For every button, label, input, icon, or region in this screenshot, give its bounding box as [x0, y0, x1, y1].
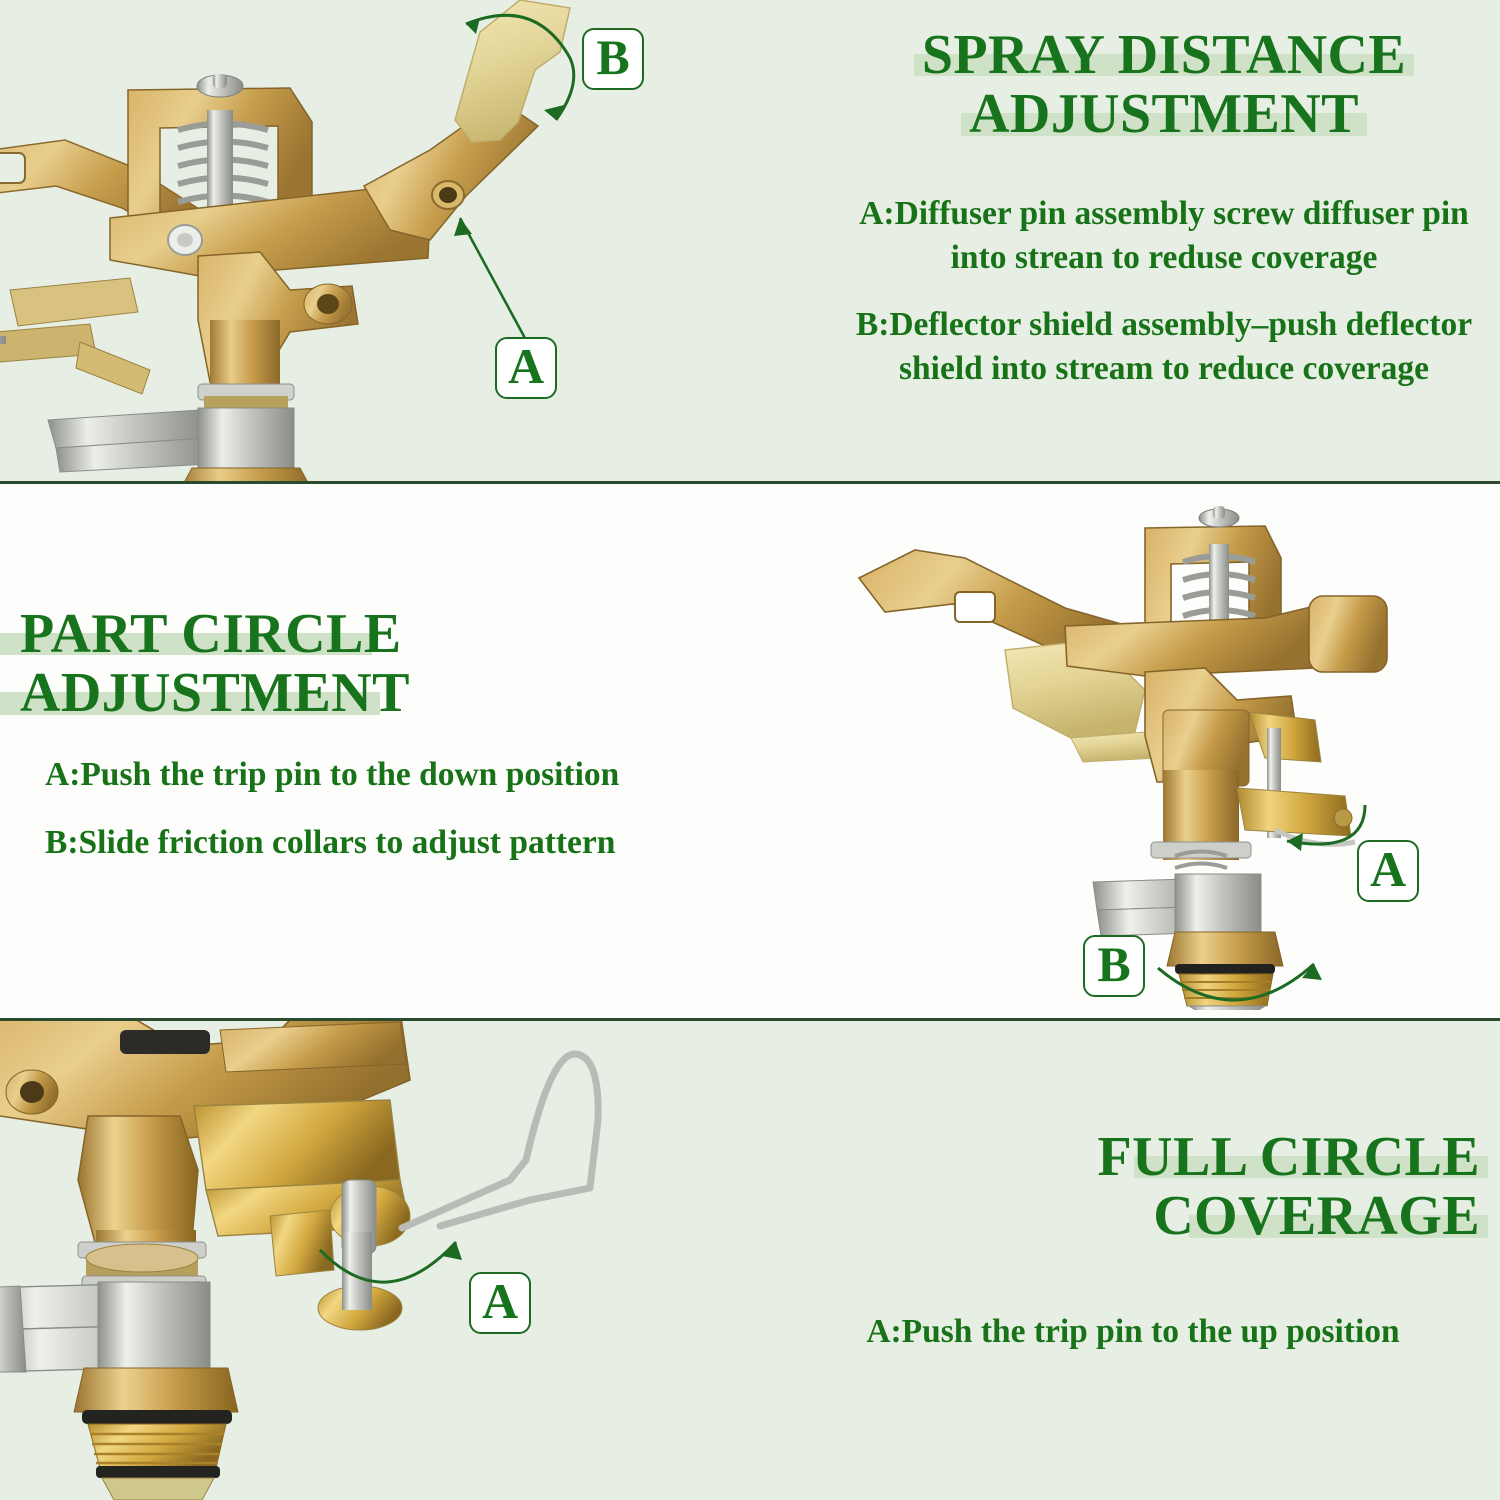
instruction-a: A:Push the trip pin to the down position: [45, 753, 665, 797]
panel-body-spray-distance: A:Diffuser pin assembly screw diffuser p…: [836, 192, 1492, 390]
panel-divider-1: [0, 481, 1500, 484]
callout-badge-a[interactable]: A: [469, 1272, 531, 1334]
callout-badge-b[interactable]: B: [582, 28, 644, 90]
infographic-sheet: B A SPRAY DISTANCE ADJUSTMENT A:Diffuser…: [0, 0, 1500, 1500]
title-line-1: FULL CIRCLE: [1098, 1126, 1480, 1188]
title-line-2: ADJUSTMENT: [969, 83, 1359, 145]
title-line-2: ADJUSTMENT: [20, 662, 410, 724]
sprinkler-head-photo-full: [845, 500, 1465, 1010]
callout-badge-a[interactable]: A: [1357, 840, 1419, 902]
panel-title-spray-distance: SPRAY DISTANCE ADJUSTMENT: [840, 26, 1488, 145]
sprinkler-base-photo-trip-pin: [0, 1020, 630, 1500]
sprinkler-head-photo-diffuser: [0, 0, 660, 483]
panel-title-full-circle: FULL CIRCLE COVERAGE: [820, 1128, 1480, 1247]
title-line-1: PART CIRCLE: [20, 603, 402, 665]
instruction-b: B:Slide friction collars to adjust patte…: [45, 821, 665, 865]
instruction-a: A:Push the trip pin to the up position: [780, 1310, 1486, 1354]
callout-badge-b[interactable]: B: [1083, 935, 1145, 997]
panel-body-full-circle: A:Push the trip pin to the up position: [780, 1310, 1486, 1354]
panel-title-part-circle: PART CIRCLE ADJUSTMENT: [20, 605, 660, 724]
callout-badge-a[interactable]: A: [495, 337, 557, 399]
title-line-1: SPRAY DISTANCE: [922, 24, 1406, 86]
panel-body-part-circle: A:Push the trip pin to the down position…: [45, 753, 665, 864]
panel-spray-distance: B A SPRAY DISTANCE ADJUSTMENT A:Diffuser…: [0, 0, 1500, 483]
instruction-a: A:Diffuser pin assembly screw diffuser p…: [836, 192, 1492, 279]
instruction-b: B:Deflector shield assembly–push deflect…: [836, 303, 1492, 390]
panel-divider-2: [0, 1018, 1500, 1021]
title-line-2: COVERAGE: [1153, 1185, 1480, 1247]
